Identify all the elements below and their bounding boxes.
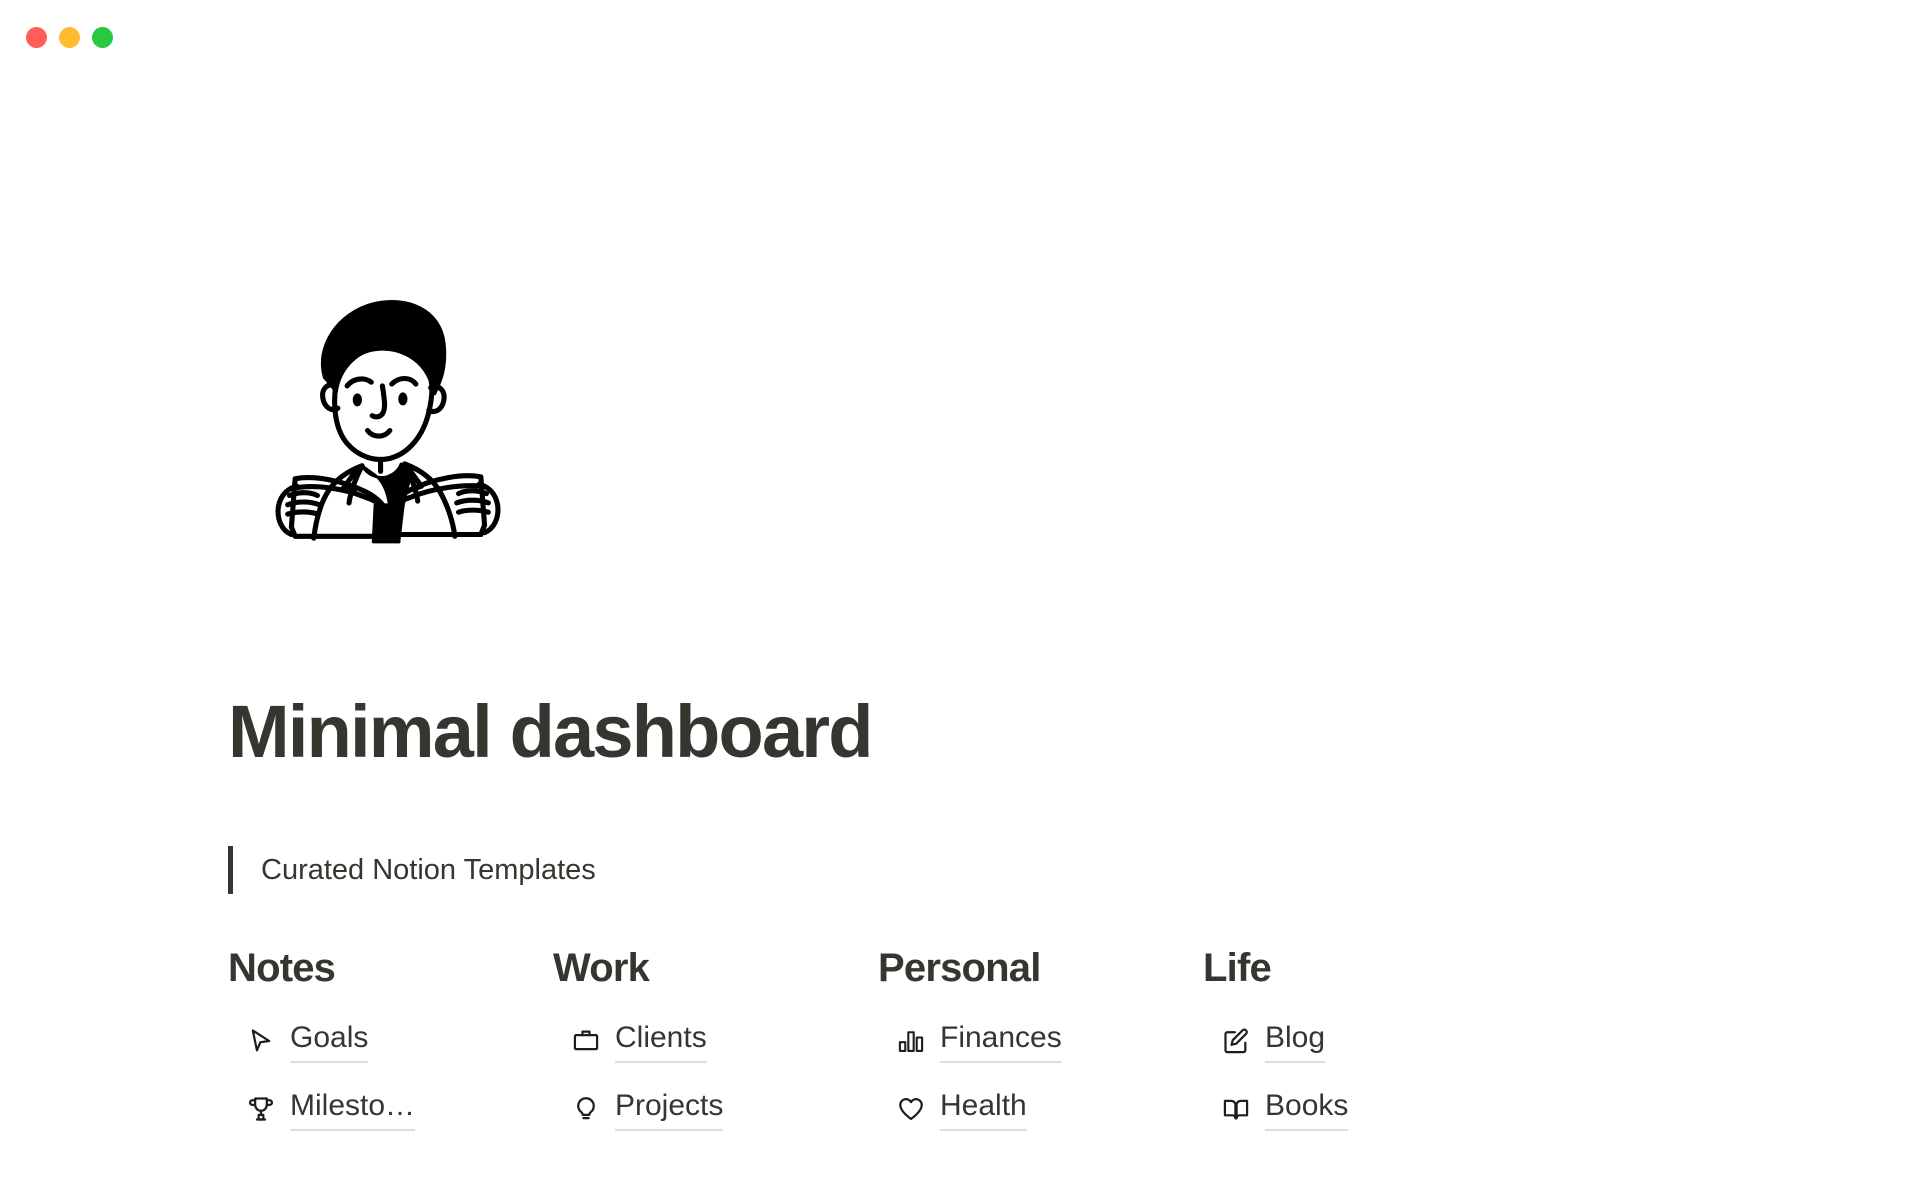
link-milestones[interactable]: Milesto…: [228, 1088, 553, 1130]
link-label[interactable]: Books: [1265, 1088, 1348, 1131]
minimize-window-button[interactable]: [59, 27, 80, 48]
heart-icon: [896, 1094, 926, 1124]
page-canvas: Minimal dashboard Curated Notion Templat…: [0, 74, 1920, 1200]
blockquote: Curated Notion Templates: [228, 846, 596, 894]
link-projects[interactable]: Projects: [553, 1088, 878, 1130]
column-title-life: Life: [1203, 946, 1528, 990]
column-personal: Personal Finances: [878, 946, 1203, 1156]
bar-chart-icon: [896, 1026, 926, 1056]
column-notes: Notes Goals: [228, 946, 553, 1156]
person-reading-book-illustration: [258, 284, 518, 564]
column-life: Life Blog: [1203, 946, 1528, 1156]
link-columns: Notes Goals: [228, 946, 1788, 1156]
link-label[interactable]: Finances: [940, 1020, 1062, 1063]
link-blog[interactable]: Blog: [1203, 1020, 1528, 1062]
blockquote-text: Curated Notion Templates: [261, 846, 596, 894]
lightbulb-icon: [571, 1094, 601, 1124]
link-label[interactable]: Clients: [615, 1020, 707, 1063]
briefcase-icon: [571, 1026, 601, 1056]
cursor-arrow-icon: [246, 1026, 276, 1056]
link-label[interactable]: Projects: [615, 1088, 723, 1131]
blockquote-bar: [228, 846, 233, 894]
column-title-personal: Personal: [878, 946, 1203, 990]
link-label[interactable]: Health: [940, 1088, 1027, 1131]
link-health[interactable]: Health: [878, 1088, 1203, 1130]
trophy-icon: [246, 1094, 276, 1124]
link-label[interactable]: Milesto…: [290, 1088, 415, 1131]
page-title: Minimal dashboard: [228, 694, 872, 771]
link-label[interactable]: Goals: [290, 1020, 368, 1063]
column-title-notes: Notes: [228, 946, 553, 990]
link-finances[interactable]: Finances: [878, 1020, 1203, 1062]
link-books[interactable]: Books: [1203, 1088, 1528, 1130]
column-work: Work Clients: [553, 946, 878, 1156]
link-clients[interactable]: Clients: [553, 1020, 878, 1062]
open-book-icon: [1221, 1094, 1251, 1124]
column-title-work: Work: [553, 946, 878, 990]
close-window-button[interactable]: [26, 27, 47, 48]
pencil-square-icon: [1221, 1026, 1251, 1056]
window-title-bar: [0, 0, 1920, 74]
link-goals[interactable]: Goals: [228, 1020, 553, 1062]
link-label[interactable]: Blog: [1265, 1020, 1325, 1063]
maximize-window-button[interactable]: [92, 27, 113, 48]
